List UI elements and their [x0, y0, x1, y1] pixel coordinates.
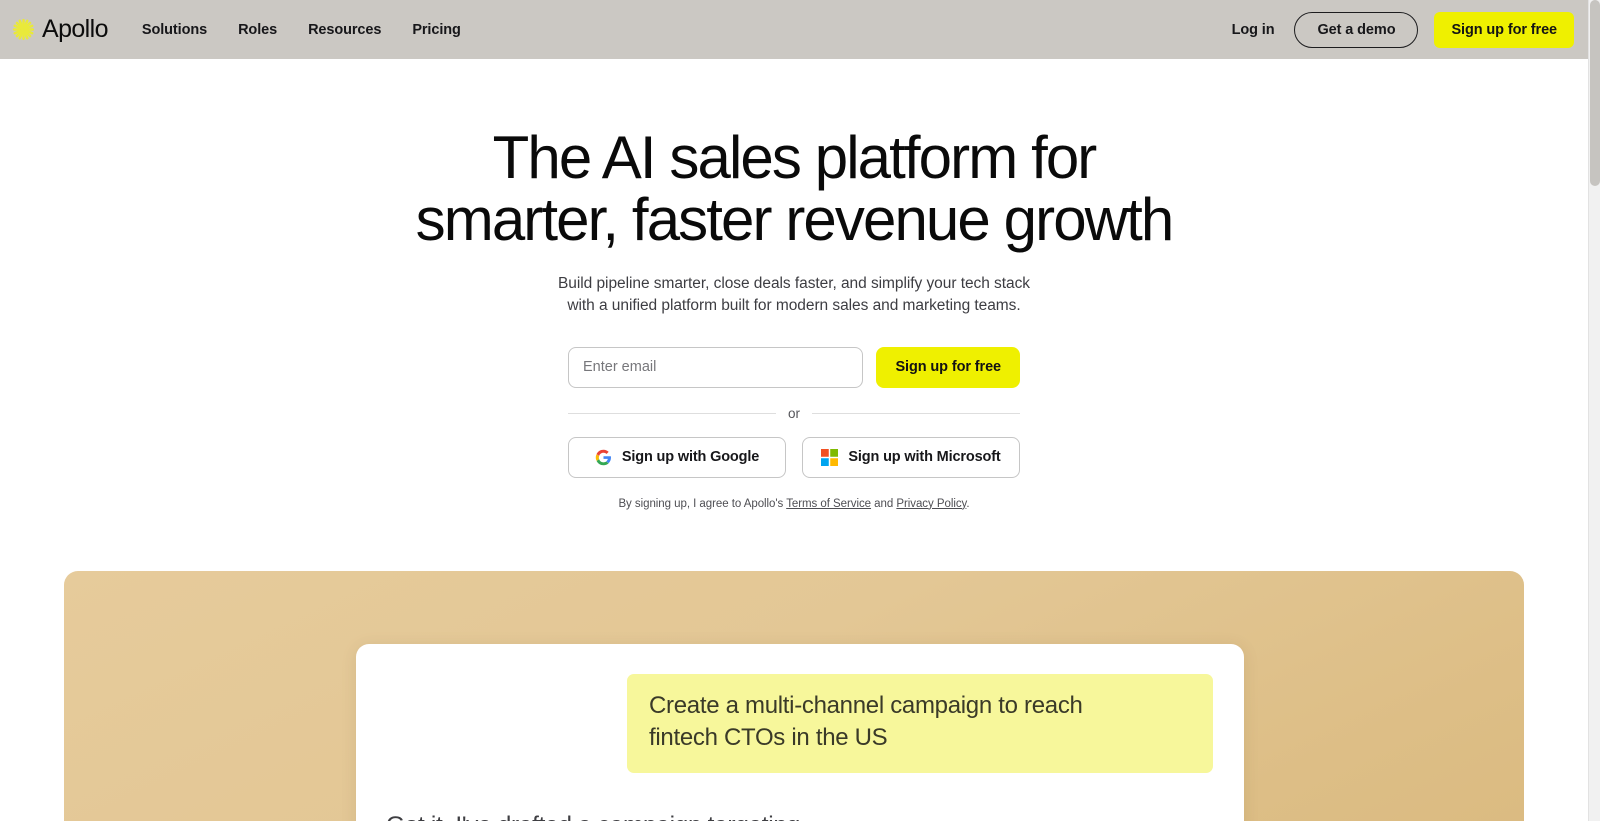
chat-reply-line-1: Got it. I've drafted a campaign targetin… [386, 810, 1216, 821]
legal-consent-text: By signing up, I agree to Apollo's Terms… [0, 498, 1588, 510]
chat-prompt-line-1: Create a multi-channel campaign to reach [649, 690, 1191, 723]
nav-item-pricing[interactable]: Pricing [412, 22, 460, 38]
scrollbar-thumb[interactable] [1590, 0, 1600, 186]
site-header: Apollo Solutions Roles Resources Pricing… [0, 0, 1588, 59]
header-signup-button[interactable]: Sign up for free [1434, 12, 1574, 48]
sign-up-with-google-button[interactable]: Sign up with Google [568, 437, 786, 478]
hero-signup-button[interactable]: Sign up for free [876, 347, 1020, 388]
nav-item-solutions[interactable]: Solutions [142, 22, 207, 38]
microsoft-icon [821, 449, 838, 466]
sign-up-with-microsoft-button[interactable]: Sign up with Microsoft [802, 437, 1020, 478]
sso-microsoft-label: Sign up with Microsoft [848, 449, 1000, 465]
page-scrollbar[interactable] [1588, 0, 1600, 821]
hero-title-line-2: smarter, faster revenue growth [294, 189, 1294, 251]
hero-title-line-1: The AI sales platform for [294, 127, 1294, 189]
sso-google-label: Sign up with Google [622, 449, 759, 465]
login-link[interactable]: Log in [1228, 22, 1279, 38]
legal-prefix: By signing up, I agree to Apollo's [618, 498, 786, 510]
divider-rule-right [812, 413, 1020, 414]
page-title: The AI sales platform for smarter, faste… [294, 127, 1294, 251]
chat-assistant-reply: Got it. I've drafted a campaign targetin… [386, 810, 1216, 821]
asterisk-starburst-icon [12, 18, 35, 41]
main-nav: Solutions Roles Resources Pricing [142, 22, 461, 38]
hero-section: The AI sales platform for smarter, faste… [0, 59, 1588, 510]
legal-mid: and [871, 498, 896, 510]
sso-buttons: Sign up with Google Sign up with Microso… [568, 437, 1020, 478]
get-a-demo-button[interactable]: Get a demo [1294, 12, 1418, 48]
chat-user-prompt: Create a multi-channel campaign to reach… [627, 674, 1213, 773]
header-actions: Log in Get a demo Sign up for free [1228, 12, 1574, 48]
conversation-card: Create a multi-channel campaign to reach… [356, 644, 1244, 821]
or-divider: or [568, 406, 1020, 421]
privacy-policy-link[interactable]: Privacy Policy [896, 498, 966, 510]
brand-name: Apollo [42, 17, 108, 42]
page-scroll-area: Apollo Solutions Roles Resources Pricing… [0, 0, 1588, 821]
nav-item-resources[interactable]: Resources [308, 22, 381, 38]
showcase-card: Create a multi-channel campaign to reach… [64, 571, 1524, 821]
or-label: or [788, 406, 800, 421]
hero-subtitle: Build pipeline smarter, close deals fast… [0, 273, 1588, 318]
email-input[interactable] [568, 347, 863, 388]
google-icon [595, 449, 612, 466]
signup-form: Sign up for free [568, 347, 1020, 388]
terms-of-service-link[interactable]: Terms of Service [786, 498, 871, 510]
chat-prompt-line-2: fintech CTOs in the US [649, 722, 1191, 755]
hero-subtitle-line-2: with a unified platform built for modern… [0, 295, 1588, 317]
hero-subtitle-line-1: Build pipeline smarter, close deals fast… [0, 273, 1588, 295]
nav-item-roles[interactable]: Roles [238, 22, 277, 38]
divider-rule-left [568, 413, 776, 414]
brand-logo[interactable]: Apollo [12, 17, 108, 42]
legal-suffix: . [966, 498, 969, 510]
